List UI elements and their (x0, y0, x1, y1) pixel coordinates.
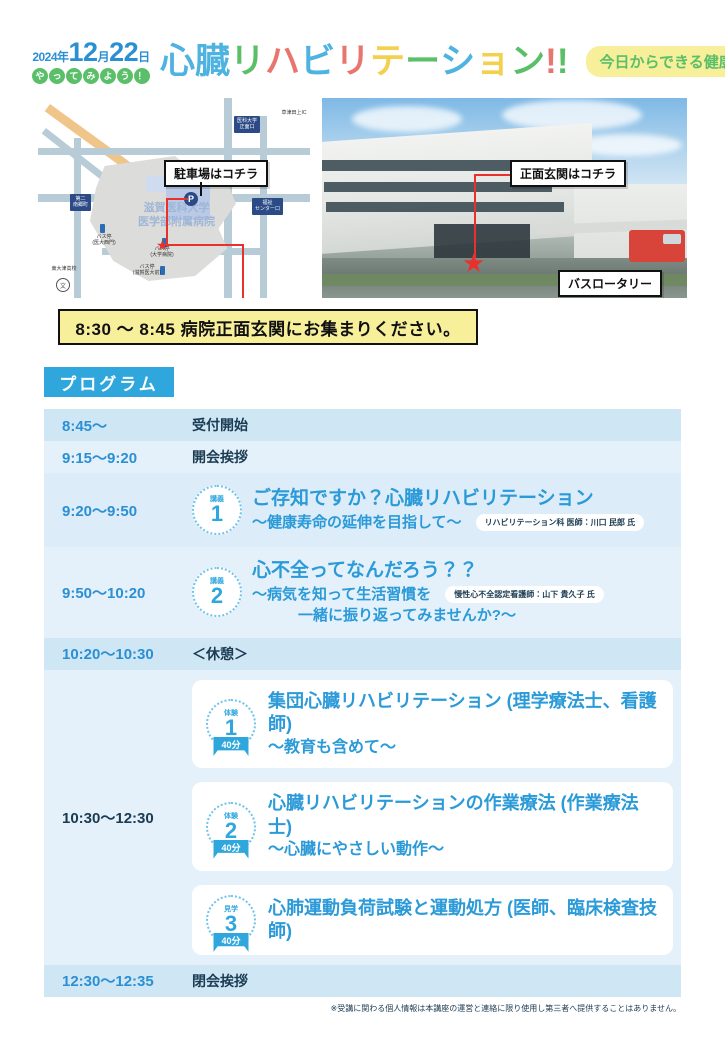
title-char-1: 臓 (195, 44, 230, 79)
experience-badge: 体験 1 40分 (206, 699, 256, 749)
media-row: 滋賀医科大学 医学部附属病院 P 医科大学正面口 草津田上IC 第二南郷町 福祉… (0, 98, 725, 303)
card-text: 心肺運動負荷試験と運動処方 (医師、臨床検査技師) (268, 897, 659, 944)
map-label-university-gate: 医科大学正面口 (234, 116, 260, 133)
title-char-0: 心 (160, 44, 195, 79)
card-text: 心臓リハビリテーションの作業療法 (作業療法士) ～心臓にやさしい動作～ (268, 792, 659, 861)
date-month-number: 12 (69, 39, 98, 66)
row-time: 12:30～12:35 (44, 970, 192, 991)
experience-card-3[interactable]: 見学 3 40分 心肺運動負荷試験と運動処方 (医師、臨床検査技師) (192, 885, 673, 955)
map-route-line-v2 (166, 198, 168, 244)
row-time: 8:45～ (44, 415, 192, 436)
card-title: 集団心臓リハビリテーション (理学療法士、看護師) (268, 690, 659, 737)
experience-card-1[interactable]: 体験 1 40分 集団心臓リハビリテーション (理学療法士、看護師) ～教育も含… (192, 680, 673, 769)
lecture-subtitle-2: 一緒に振り返ってみませんか?～ (252, 606, 681, 626)
duration-ribbon: 40分 (213, 933, 248, 952)
photo-window-row-3 (326, 202, 564, 212)
entrance-leader-vertical (474, 174, 476, 258)
map-label-welfare-center: 福祉センター口 (252, 198, 283, 215)
row-time: 9:15～9:20 (44, 447, 192, 468)
program-heading: プログラム (44, 367, 174, 397)
experience-time: 10:30～12:30 (44, 807, 192, 828)
catchphrase-bubble-2: て (66, 68, 82, 84)
card-subtitle: ～心臓にやさしい動作～ (268, 840, 659, 861)
photo-vehicle-window (663, 234, 681, 244)
duration-ribbon: 40分 (213, 840, 248, 859)
badge-number: 3 (225, 914, 237, 934)
map-hospital-name-line2: 医学部附属病院 (138, 216, 215, 228)
title-char-10: ン (510, 44, 545, 79)
lecture-subtitle: ～健康寿命の延伸を目指して～ (252, 513, 462, 533)
experience-block: 10:30～12:30 体験 1 40分 集団心臓リハビリテーション (理学療法… (44, 670, 681, 965)
parking-callout-leader (200, 182, 202, 196)
map-bus-stop-3: バス停(滋賀医大前) (124, 264, 170, 276)
lecture-badge: 講義 2 (192, 567, 242, 617)
map-hospital-name: 滋賀医科大学 医学部附属病院 (138, 202, 215, 230)
lecture-text: ご存知ですか？心臓リハビリテーション ～健康寿命の延伸を目指して～ リハビリテー… (252, 487, 681, 532)
experience-card-2[interactable]: 体験 2 40分 心臓リハビリテーションの作業療法 (作業療法士) ～心臓にやさ… (192, 782, 673, 871)
tagline-badge: 今日からできる健康増進 (586, 46, 725, 77)
experience-badge: 見学 3 40分 (206, 895, 256, 945)
experience-inner: 10:30～12:30 体験 1 40分 集団心臓リハビリテーション (理学療法… (44, 680, 681, 955)
map-hospital-name-line1: 滋賀医科大学 (144, 202, 210, 214)
notice-row: 8:30 ～ 8:45 病院正面玄関にお集まりください。 (0, 309, 725, 345)
row-text: 開会挨拶 (192, 447, 248, 467)
map-label-ic: 草津田上IC (274, 110, 310, 116)
title-char-6: テ (370, 44, 405, 79)
table-row: 8:45～ 受付開始 (44, 409, 681, 441)
title-char-3: ハ (265, 44, 300, 79)
rotary-callout: バスロータリー (558, 270, 662, 297)
entrance-callout: 正面玄関はコチラ (510, 160, 626, 187)
table-row-closing: 12:30～12:35 閉会挨拶 (44, 965, 681, 997)
title-char-7: ー (405, 44, 440, 79)
title-char-5: リ (335, 44, 370, 79)
row-text: ＜休憩＞ (192, 644, 248, 664)
speaker-tag: 慢性心不全認定看護師：山下 貴久子 氏 (445, 586, 603, 603)
catchphrase-bubble-5: う (117, 68, 133, 84)
catchphrase-bubble-1: っ (49, 68, 65, 84)
lecture-badge: 講義 1 (192, 485, 242, 535)
map-bus-stop-1: バス停(医大西門) (82, 234, 126, 246)
row-time: 9:20～9:50 (44, 500, 192, 521)
title-char-8: シ (440, 44, 475, 79)
event-date: 2024年 12 月 22 日 (32, 39, 149, 66)
card-text: 集団心臓リハビリテーション (理学療法士、看護師) ～教育も含めて～ (268, 690, 659, 759)
title-char-9: ョ (475, 44, 510, 79)
card-subtitle: ～教育も含めて～ (268, 738, 659, 759)
duration-ribbon: 40分 (213, 737, 248, 756)
map-route-line-h2 (166, 198, 188, 200)
date-day-unit: 日 (138, 48, 150, 65)
cloud-1 (352, 106, 462, 132)
flyer-page: 2024年 12 月 22 日 やってみよう！ 心臓リハビリテーション!! 今日… (0, 30, 725, 1054)
map-label-nangocho: 第二南郷町 (70, 194, 91, 211)
page-title: 心臓リハビリテーション!! (160, 44, 568, 79)
row-time: 9:50～10:20 (44, 582, 192, 603)
experience-cards: 体験 1 40分 集団心臓リハビリテーション (理学療法士、看護師) ～教育も含… (192, 680, 681, 955)
speaker-tag: リハビリテーション科 医師：川口 民郎 氏 (476, 514, 645, 531)
entrance-leader-horizontal (474, 174, 510, 176)
card-title: 心臓リハビリテーションの作業療法 (作業療法士) (268, 792, 659, 839)
card-title: 心肺運動負荷試験と運動処方 (医師、臨床検査技師) (268, 897, 659, 944)
title-char-12: ! (557, 44, 569, 79)
title-char-4: ビ (300, 44, 335, 79)
school-icon: 文 (56, 278, 70, 292)
hospital-photo: ★ 正面玄関はコチラ バスロータリー (322, 98, 687, 298)
lecture-title: 心不全ってなんだろう？？ (252, 559, 681, 583)
experience-badge: 体験 2 40分 (206, 802, 256, 852)
flyer-header: 2024年 12 月 22 日 やってみよう！ 心臓リハビリテーション!! 今日… (0, 30, 725, 92)
bus-stop-icon-1 (100, 224, 105, 233)
date-day-number: 22 (109, 39, 138, 66)
table-row-lecture-1: 9:20～9:50 講義 1 ご存知ですか？心臓リハビリテーション ～健康寿命の… (44, 473, 681, 547)
badge-number: 1 (225, 718, 237, 738)
catchphrase-bubble-4: よ (100, 68, 116, 84)
catchphrase-bubbles: やってみよう！ (32, 68, 150, 84)
lecture-body: 講義 2 心不全ってなんだろう？？ ～病気を知って生活習慣を 慢性心不全認定看護… (192, 559, 681, 626)
badge-number: 1 (211, 504, 223, 524)
meeting-notice: 8:30 ～ 8:45 病院正面玄関にお集まりください。 (58, 309, 478, 345)
parking-callout: 駐車場はコチラ (164, 160, 268, 187)
access-map: 滋賀医科大学 医学部附属病院 P 医科大学正面口 草津田上IC 第二南郷町 福祉… (38, 98, 310, 298)
catchphrase-bubble-3: み (83, 68, 99, 84)
badge-number: 2 (225, 821, 237, 841)
row-text: 閉会挨拶 (192, 971, 248, 991)
lecture-title: ご存知ですか？心臓リハビリテーション (252, 487, 681, 511)
program-table: 8:45～ 受付開始 9:15～9:20 開会挨拶 9:20～9:50 講義 1… (44, 409, 681, 997)
map-route-line-h (166, 244, 244, 246)
title-char-2: リ (230, 44, 265, 79)
lecture-subtitle-row: ～病気を知って生活習慣を 慢性心不全認定看護師：山下 貴久子 氏 (252, 585, 681, 605)
map-label-school: 東大津高校 (44, 266, 84, 272)
table-row: 9:15～9:20 開会挨拶 (44, 441, 681, 473)
lecture-body: 講義 1 ご存知ですか？心臓リハビリテーション ～健康寿命の延伸を目指して～ リ… (192, 485, 681, 535)
lecture-subtitle: ～病気を知って生活習慣を (252, 585, 431, 605)
photo-window-row-1 (322, 160, 536, 171)
map-road-vertical-2 (74, 138, 81, 298)
date-month-unit: 月 (98, 48, 110, 65)
row-text: 受付開始 (192, 415, 248, 435)
table-row-break: 10:20～10:30 ＜休憩＞ (44, 638, 681, 670)
catchphrase-bubble-0: や (32, 68, 48, 84)
badge-number: 2 (211, 586, 223, 606)
privacy-footnote: ※受講に関わる個人情報は本講座の運営と連絡に限り使用し第三者へ提供することはあり… (0, 1003, 681, 1014)
title-char-11: ! (545, 44, 557, 79)
event-date-block: 2024年 12 月 22 日 やってみよう！ (32, 39, 150, 84)
date-year: 2024年 (32, 48, 68, 65)
table-row-lecture-2: 9:50～10:20 講義 2 心不全ってなんだろう？？ ～病気を知って生活習慣… (44, 547, 681, 638)
lecture-subtitle-row: ～健康寿命の延伸を目指して～ リハビリテーション科 医師：川口 民郎 氏 (252, 513, 681, 533)
lecture-text: 心不全ってなんだろう？？ ～病気を知って生活習慣を 慢性心不全認定看護師：山下 … (252, 559, 681, 626)
catchphrase-bubble-6: ！ (134, 68, 150, 84)
row-time: 10:20～10:30 (44, 643, 192, 664)
map-route-line-v (242, 244, 244, 298)
